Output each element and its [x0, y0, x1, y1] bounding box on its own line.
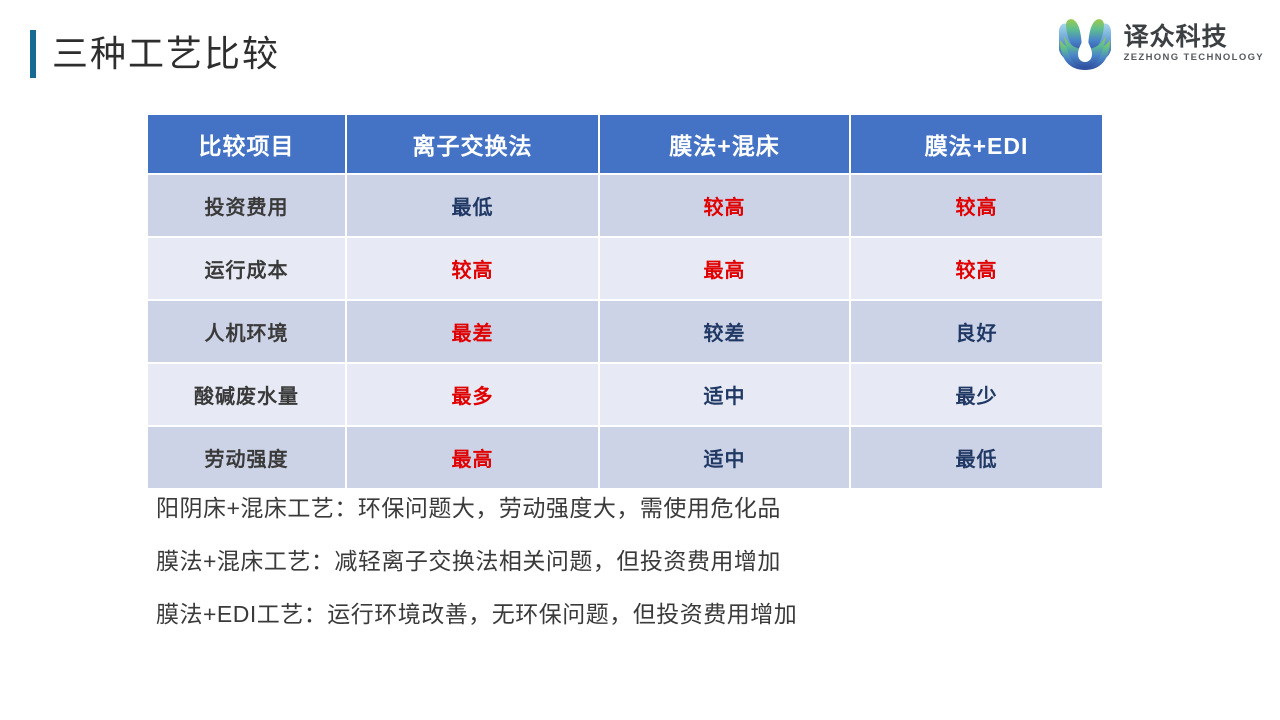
cell-value: 最低 [851, 427, 1102, 488]
row-label-acid-alkali-wastewater: 酸碱废水量 [148, 364, 347, 427]
cell-value: 较高 [600, 175, 851, 238]
cell-value: 适中 [600, 427, 851, 488]
company-logo: 译众科技 ZEZHONG TECHNOLOGY [1054, 14, 1264, 76]
cell-value: 良好 [851, 301, 1102, 364]
table-row: 人机环境 最差 较差 良好 [148, 301, 1102, 364]
table-row: 运行成本 较高 最高 较高 [148, 238, 1102, 301]
note-line-membrane-mixed-bed: 膜法+混床工艺：减轻离子交换法相关问题，但投资费用增加 [156, 546, 1156, 577]
column-header-membrane-edi: 膜法+EDI [851, 115, 1102, 175]
cell-value: 适中 [600, 364, 851, 427]
table-header-row: 比较项目 离子交换法 膜法+混床 膜法+EDI [148, 115, 1102, 175]
table-row: 酸碱废水量 最多 适中 最少 [148, 364, 1102, 427]
column-header-criteria: 比较项目 [148, 115, 347, 175]
row-label-investment-cost: 投资费用 [148, 175, 347, 238]
cell-value: 较差 [600, 301, 851, 364]
logo-name-en: ZEZHONG TECHNOLOGY [1124, 52, 1264, 63]
column-header-ion-exchange: 离子交换法 [347, 115, 600, 175]
title-accent-bar [30, 30, 36, 78]
note-line-ion-exchange: 阳阴床+混床工艺：环保问题大，劳动强度大，需使用危化品 [156, 493, 1156, 524]
row-label-work-environment: 人机环境 [148, 301, 347, 364]
logo-wordmark: 译众科技 ZEZHONG TECHNOLOGY [1124, 24, 1264, 66]
row-label-operating-cost: 运行成本 [148, 238, 347, 301]
leaf-droplet-emblem-icon [1054, 16, 1116, 74]
cell-value: 较高 [347, 238, 600, 301]
note-line-membrane-edi: 膜法+EDI工艺：运行环境改善，无环保问题，但投资费用增加 [156, 599, 1156, 630]
cell-value: 最高 [347, 427, 600, 488]
cell-value: 最少 [851, 364, 1102, 427]
table-row: 劳动强度 最高 适中 最低 [148, 427, 1102, 488]
cell-value: 最高 [600, 238, 851, 301]
cell-value: 最差 [347, 301, 600, 364]
comparison-table-wrapper: 比较项目 离子交换法 膜法+混床 膜法+EDI 投资费用 最低 较高 较高 运行… [148, 115, 1102, 488]
logo-name-cn: 译众科技 [1124, 24, 1264, 50]
page-title: 三种工艺比较 [30, 26, 280, 82]
comparison-table: 比较项目 离子交换法 膜法+混床 膜法+EDI 投资费用 最低 较高 较高 运行… [148, 115, 1102, 488]
title-text: 三种工艺比较 [52, 36, 280, 72]
cell-value: 最低 [347, 175, 600, 238]
cell-value: 最多 [347, 364, 600, 427]
summary-notes: 阳阴床+混床工艺：环保问题大，劳动强度大，需使用危化品 膜法+混床工艺：减轻离子… [156, 493, 1156, 630]
cell-value: 较高 [851, 175, 1102, 238]
column-header-membrane-mixed-bed: 膜法+混床 [600, 115, 851, 175]
row-label-labor-intensity: 劳动强度 [148, 427, 347, 488]
slide-canvas: 三种工艺比较 [0, 0, 1280, 720]
cell-value: 较高 [851, 238, 1102, 301]
table-row: 投资费用 最低 较高 较高 [148, 175, 1102, 238]
